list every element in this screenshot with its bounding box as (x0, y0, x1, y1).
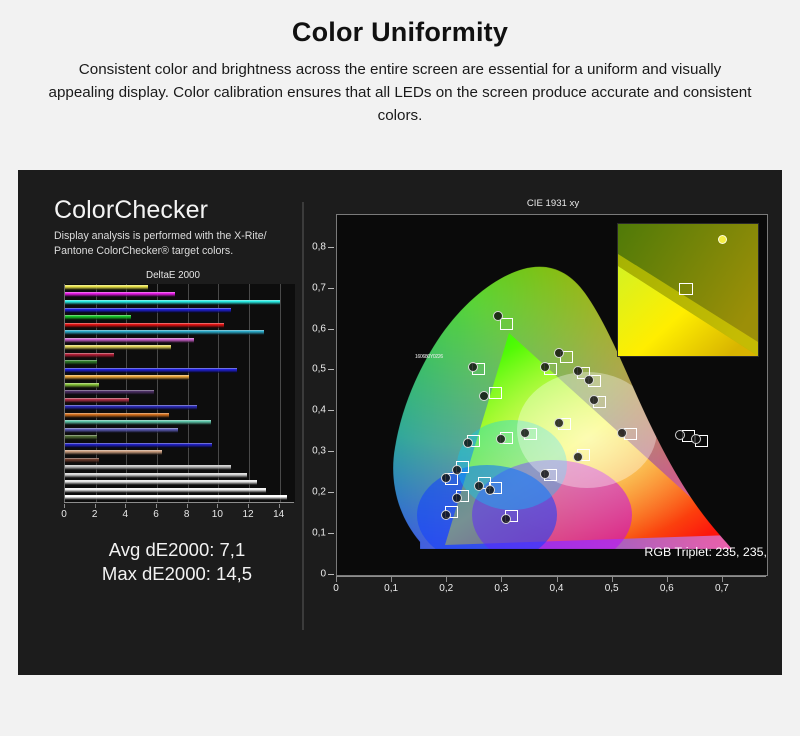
colorchecker-subtitle: Display analysis is performed with the X… (54, 229, 306, 260)
cie-y-tick-label: 0,5 (304, 364, 326, 375)
cie-y-tick-label: 0 (304, 569, 326, 580)
deltae-bar (65, 300, 280, 305)
deltae-x-tick-label: 4 (123, 509, 129, 520)
max-de2000-value: Max dE2000: 14,5 (52, 562, 302, 586)
deltae-bar (65, 285, 148, 290)
page-header: Color Uniformity Consistent color and br… (0, 0, 800, 127)
deltae-bar (65, 292, 175, 297)
cie-x-tick-label: 0 (333, 583, 339, 594)
cie-x-tick (391, 577, 392, 582)
cie-measured-point (501, 514, 511, 524)
deltae-x-tick-label: 12 (242, 509, 253, 520)
cie-measured-point (617, 428, 627, 438)
cie-y-tick (328, 329, 334, 330)
cie-y-tick (328, 533, 334, 534)
cie-plot-area: 160680Y0226 (336, 214, 768, 576)
deltae-x-tick (279, 504, 280, 508)
cie-y-tick-label: 0,8 (304, 241, 326, 252)
cie-target-square (489, 387, 502, 399)
deltae-x-tick (95, 504, 96, 508)
cie-measured-point (485, 485, 495, 495)
deltae-bar (65, 480, 257, 485)
deltae-x-tick-label: 8 (184, 509, 190, 520)
deltae-bar (65, 488, 266, 493)
deltae-gridline (249, 284, 250, 502)
panel-divider (302, 202, 304, 630)
page-description: Consistent color and brightness across t… (45, 58, 755, 127)
avg-de2000-value: Avg dE2000: 7,1 (52, 538, 302, 562)
cie-x-tick (722, 577, 723, 582)
cie-y-tick (328, 451, 334, 452)
cie-x-tick-label: 0,7 (715, 583, 729, 594)
deltae-bar (65, 465, 231, 470)
cie-x-tick-label: 0,4 (550, 583, 564, 594)
deltae-x-tick (64, 504, 65, 508)
cie-measured-point (584, 375, 594, 385)
deltae-bar (65, 323, 224, 328)
cie-measured-point (496, 434, 506, 444)
swatch-target-square (679, 283, 693, 295)
deltae-x-tick-label: 6 (153, 509, 159, 520)
cie-y-tick (328, 492, 334, 493)
cie-y-tick-label: 0,3 (304, 446, 326, 457)
deltae-bar (65, 315, 131, 320)
cie-x-tick-label: 0,1 (384, 583, 398, 594)
deltae-x-axis (64, 502, 294, 503)
deltae-bar (65, 390, 154, 395)
deltae-gridline (280, 284, 281, 502)
cie-y-tick-label: 0,1 (304, 528, 326, 539)
deltae-plot-area (64, 284, 295, 502)
deltae-bar (65, 398, 129, 403)
cie-x-tick (667, 577, 668, 582)
cie-target-square (500, 318, 513, 330)
colorchecker-title: ColorChecker (54, 198, 302, 223)
deltae-bar (65, 383, 99, 388)
cie-x-tick-label: 0,6 (660, 583, 674, 594)
cie-x-tick (446, 577, 447, 582)
deltae-bar (65, 413, 169, 418)
deltae-x-tick (156, 504, 157, 508)
cie-measured-point (441, 473, 451, 483)
deltae-bar (65, 435, 97, 440)
cie-x-tick (557, 577, 558, 582)
deltae-x-tick-label: 2 (92, 509, 98, 520)
deltae-x-tick (187, 504, 188, 508)
deltae-x-tick-label: 0 (61, 509, 67, 520)
cie-x-tick (501, 577, 502, 582)
cie-y-tick-label: 0,4 (304, 405, 326, 416)
cie-measured-point (463, 438, 473, 448)
cie-y-tick (328, 369, 334, 370)
cie-measured-point (479, 391, 489, 401)
analysis-panel: ColorChecker Display analysis is perform… (18, 170, 782, 675)
cie-y-tick-label: 0,6 (304, 323, 326, 334)
cie-x-tick-label: 0,5 (605, 583, 619, 594)
cie-measured-point (554, 348, 564, 358)
swatch-measured-point (718, 235, 727, 244)
deltae-bar (65, 428, 178, 433)
deltae-bar (65, 338, 194, 343)
cie-measured-point (474, 481, 484, 491)
rgb-triplet-readout: RGB Triplet: 235, 235, (644, 545, 767, 559)
deltae-bar (65, 353, 114, 358)
page-title: Color Uniformity (0, 18, 800, 48)
color-swatch-inset (617, 223, 759, 357)
deltae-bar (65, 405, 197, 410)
cie-y-tick (328, 574, 334, 575)
deltae-summary: Avg dE2000: 7,1 Max dE2000: 14,5 (52, 538, 302, 587)
cie-x-axis (336, 576, 766, 577)
deltae-bar (65, 330, 264, 335)
cie-measured-point (452, 465, 462, 475)
deltae-bar (65, 360, 97, 365)
cie-measured-point (540, 469, 550, 479)
cie-x-tick (612, 577, 613, 582)
deltae-x-tick-label: 14 (273, 509, 284, 520)
deltae-bar (65, 375, 189, 380)
cie-x-tick-label: 0,2 (439, 583, 453, 594)
deltae-bar (65, 443, 212, 448)
cie-y-tick (328, 288, 334, 289)
cie-chart-title: CIE 1931 xy (310, 198, 770, 209)
deltae-bar (65, 345, 171, 350)
cie-measured-point (573, 452, 583, 462)
deltae-bar (65, 458, 99, 463)
deltae-bar (65, 308, 231, 313)
deltae-x-tick (217, 504, 218, 508)
deltae-x-tick (248, 504, 249, 508)
deltae-chart-title: DeltaE 2000 (52, 270, 294, 281)
cie-y-tick-label: 0,2 (304, 487, 326, 498)
deltae-bar-chart: 02468101214 (52, 284, 294, 516)
cie-y-tick-label: 0,7 (304, 282, 326, 293)
deltae-bar (65, 420, 211, 425)
deltae-bar (65, 473, 247, 478)
cie-y-tick (328, 410, 334, 411)
deltae-bar (65, 495, 287, 500)
page-root: Color Uniformity Consistent color and br… (0, 0, 800, 736)
cie-x-tick-label: 0,3 (494, 583, 508, 594)
cie-measured-point (452, 493, 462, 503)
deltae-x-tick-label: 10 (212, 509, 223, 520)
deltae-bar (65, 450, 162, 455)
cie-measured-point (675, 430, 685, 440)
deltae-bar (65, 368, 237, 373)
cie-section: CIE 1931 xy (310, 198, 770, 653)
deltae-x-tick (125, 504, 126, 508)
cie-y-tick (328, 247, 334, 248)
cie-measured-point (441, 510, 451, 520)
cie-measured-point (554, 418, 564, 428)
cie-x-tick (336, 577, 337, 582)
colorchecker-section: ColorChecker Display analysis is perform… (52, 198, 302, 653)
